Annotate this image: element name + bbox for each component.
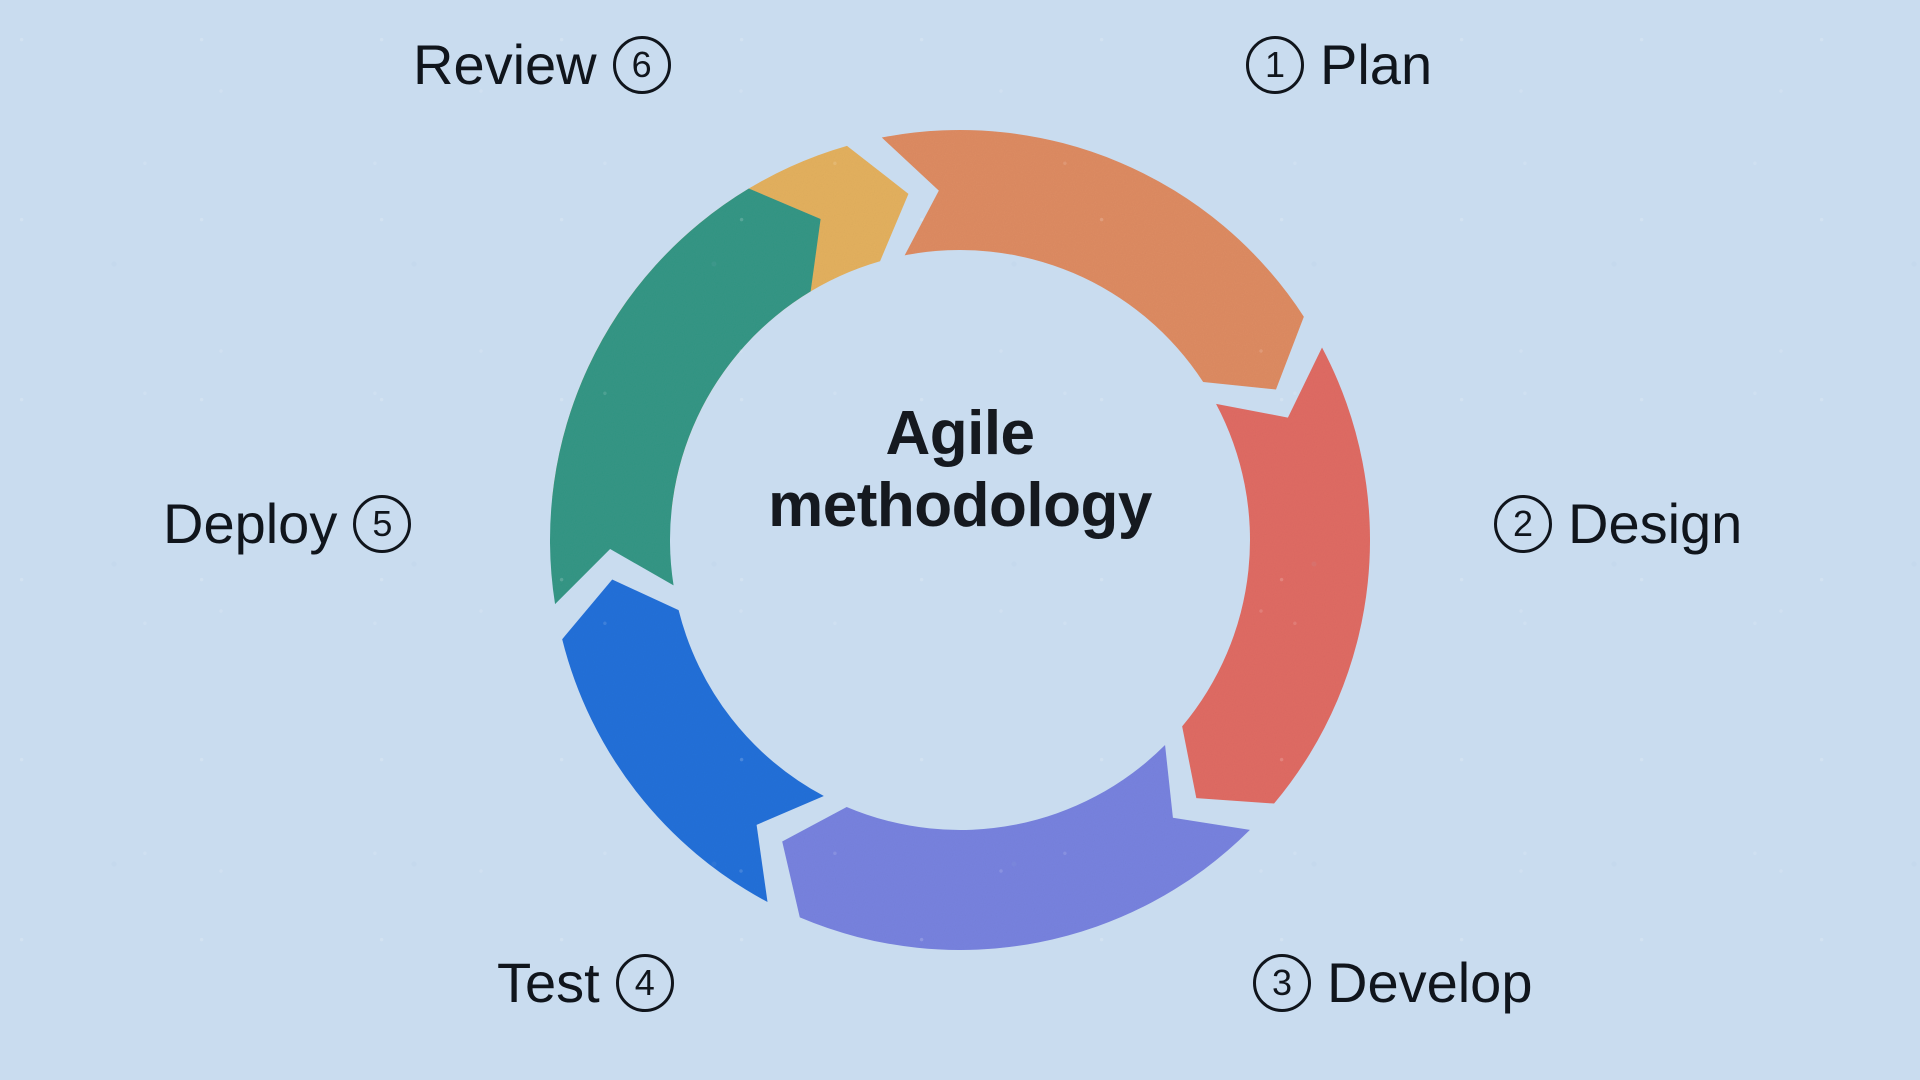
- stage-name-review: Review: [413, 37, 597, 93]
- stage-name-plan: Plan: [1320, 37, 1432, 93]
- ring-segment-test[interactable]: [782, 745, 1250, 950]
- stage-label-develop[interactable]: 3 Develop: [1253, 954, 1532, 1012]
- ring-segment-deploy[interactable]: [562, 579, 824, 902]
- stage-label-plan[interactable]: 1 Plan: [1246, 36, 1432, 94]
- stage-number-badge-6: 6: [613, 36, 671, 94]
- ring-segment-design[interactable]: [882, 130, 1304, 389]
- stage-number-badge-2: 2: [1494, 495, 1552, 553]
- stage-number-badge-5: 5: [353, 495, 411, 553]
- stage-label-design[interactable]: 2 Design: [1494, 495, 1742, 553]
- stage-name-develop: Develop: [1327, 955, 1532, 1011]
- stage-label-test[interactable]: Test 4: [497, 954, 674, 1012]
- stage-label-review[interactable]: Review 6: [413, 36, 671, 94]
- stage-label-deploy[interactable]: Deploy 5: [163, 495, 411, 553]
- stage-number-badge-3: 3: [1253, 954, 1311, 1012]
- stage-name-design: Design: [1568, 496, 1742, 552]
- stage-name-deploy: Deploy: [163, 496, 337, 552]
- stage-number-badge-1: 1: [1246, 36, 1304, 94]
- center-title: Agile methodology: [660, 398, 1260, 542]
- stage-name-test: Test: [497, 955, 600, 1011]
- center-title-line-1: Agile: [660, 398, 1260, 470]
- agile-cycle-diagram: Agile methodology 1 Plan 2 Design 3 Deve…: [0, 0, 1920, 1080]
- stage-number-badge-4: 4: [616, 954, 674, 1012]
- center-title-line-2: methodology: [660, 470, 1260, 542]
